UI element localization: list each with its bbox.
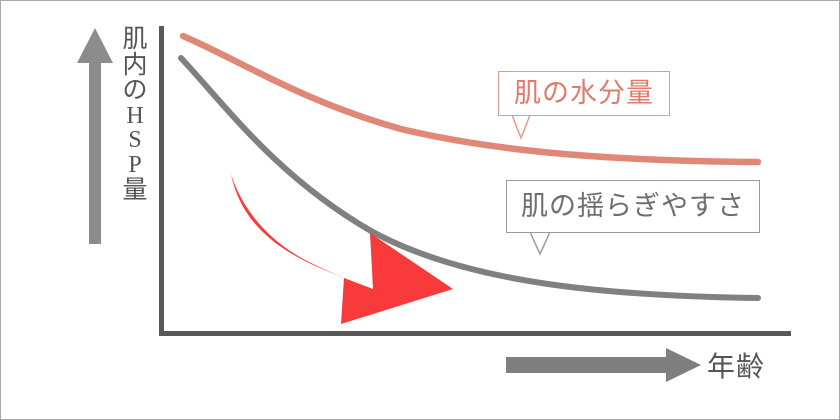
y-axis-label-char-1: 内 [122, 53, 147, 79]
callout-sensitivity-label: 肌の揺らぎやすさ [521, 193, 745, 220]
sensitivity-curve [181, 58, 758, 298]
x-axis-label: 年齢 [707, 345, 765, 385]
y-axis-label-char-3: H [126, 104, 143, 129]
decline-arrow-icon [231, 174, 453, 324]
y-axis-label-char-0: 肌 [122, 27, 147, 53]
y-axis-label-char-6: 量 [122, 178, 147, 204]
y-axis-label-char-4: S [128, 128, 141, 153]
callout-moisture-label: 肌の水分量 [514, 80, 654, 107]
y-axis-label-char-2: の [122, 78, 147, 104]
y-axis-label: 肌 内 の H S P 量 [114, 27, 156, 243]
moisture-curve [183, 36, 758, 162]
y-axis-arrow-icon [77, 28, 113, 244]
callout-sensitivity: 肌の揺らぎやすさ [506, 180, 760, 233]
y-axis-label-char-5: P [128, 153, 141, 178]
sensitivity-callout-tail [527, 232, 554, 254]
x-axis-arrow-icon [506, 348, 701, 382]
figure-canvas: 肌 内 の H S P 量 肌の水分量 肌の揺らぎやすさ 年齢 [0, 0, 840, 420]
moisture-callout-tail [509, 115, 534, 138]
callout-moisture: 肌の水分量 [498, 71, 670, 116]
